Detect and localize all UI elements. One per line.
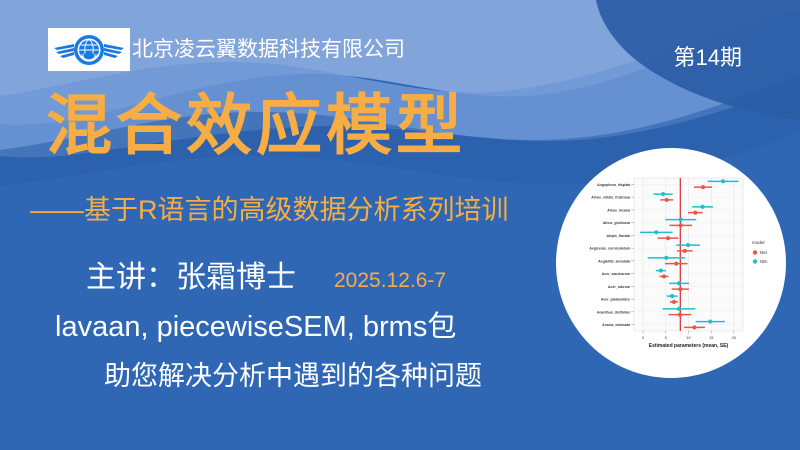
legend-swatch	[753, 259, 757, 263]
legend-swatch	[753, 250, 757, 254]
legend-label: Nlm	[760, 259, 768, 264]
x-axis-tick-label: 5	[665, 335, 668, 340]
data-point	[700, 205, 704, 209]
data-point	[677, 281, 681, 285]
data-point	[666, 236, 670, 240]
speaker-name: 主讲：张霜博士	[86, 252, 296, 296]
tagline: 助您解决分析中遇到的各种问题	[104, 354, 482, 393]
data-point	[721, 179, 725, 183]
x-axis-tick-label: 0	[642, 335, 645, 340]
y-axis-tick-label: Acer_saccharum	[602, 272, 630, 276]
y-axis-tick-label: Acanthus_ilicifolius	[597, 310, 630, 314]
y-axis-tick-label: Alnus_incana	[607, 208, 630, 212]
y-axis-tick-label: Aegialitis_annulata	[598, 259, 630, 263]
x-axis-title: Estimated parameters (mean, SE)	[649, 343, 729, 349]
data-point	[670, 294, 674, 298]
packages-line: lavaan, piecewiseSEM, brms包	[55, 303, 456, 345]
data-point	[664, 256, 668, 260]
y-axis-tick-label: Alepis_flavida	[606, 234, 630, 238]
issue-badge: 第14期	[674, 40, 742, 72]
x-axis-tick-label: 10	[686, 335, 691, 340]
data-point	[677, 307, 681, 311]
y-axis-tick-label: Acer_rubrum	[608, 285, 630, 289]
legend-title: model	[752, 240, 765, 245]
data-point	[701, 185, 705, 189]
company-logo	[48, 28, 130, 71]
company-name-label: 北京凌云翼数据科技有限公司	[132, 39, 405, 60]
data-point	[674, 262, 678, 266]
y-axis-tick-label: Alnus_glutinosa	[603, 221, 630, 225]
header-bar: 北京凌云翼数据科技有限公司	[48, 28, 405, 71]
data-point	[662, 274, 666, 278]
legend-label: Mer	[760, 250, 768, 255]
y-axis-tick-label: Acer_platanoides	[601, 298, 630, 302]
data-point	[692, 325, 696, 329]
x-axis-tick-label: 15	[709, 335, 714, 340]
x-axis-tick-label: 20	[732, 335, 737, 340]
data-point	[679, 223, 683, 227]
data-point	[686, 243, 690, 247]
chart-circle-frame: Angophora_hispidaAlnus_viridis_fruticosa…	[556, 148, 786, 378]
winged-globe-logo-icon	[52, 31, 126, 69]
data-point	[678, 313, 682, 317]
page-subtitle: ——基于R语言的高级数据分析系列培训	[30, 188, 509, 227]
poster-canvas: 北京凌云翼数据科技有限公司 第14期 混合效应模型 ——基于R语言的高级数据分析…	[0, 0, 800, 450]
y-axis-tick-label: Alnus_viridis_fruticosa	[591, 196, 630, 200]
y-axis-tick-label: Angophora_hispida	[597, 183, 630, 187]
data-point	[665, 198, 669, 202]
page-title: 混合效应模型	[46, 92, 466, 158]
forest-plot-chart: Angophora_hispidaAlnus_viridis_fruticosa…	[556, 148, 786, 378]
course-date: 2025.12.6-7	[334, 269, 446, 293]
data-point	[659, 268, 663, 272]
y-axis-tick-label: Acacia_obtusata	[602, 323, 630, 327]
data-point	[683, 249, 687, 253]
speaker-row: 主讲：张霜博士 2025.12.6-7	[86, 252, 446, 296]
data-point	[693, 211, 697, 215]
data-point	[672, 300, 676, 304]
data-point	[654, 230, 658, 234]
data-point	[679, 217, 683, 221]
data-point	[708, 319, 712, 323]
y-axis-tick-label: Aegiceras_corniculatum	[589, 247, 630, 251]
data-point	[661, 192, 665, 196]
data-point	[678, 287, 682, 291]
